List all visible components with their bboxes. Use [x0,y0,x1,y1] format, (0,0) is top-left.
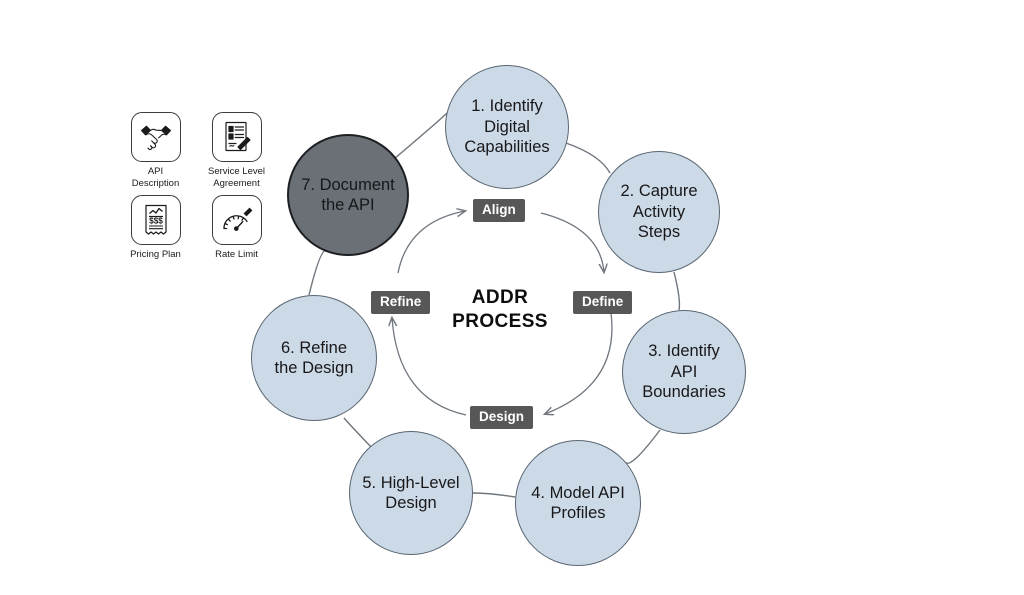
gauge-icon [212,195,262,245]
step-node-4-model-api-profiles[interactable]: 4. Model API Profiles [515,440,641,566]
artifact-label: Rate Limit [215,249,258,261]
step-node-2-capture-activity-steps[interactable]: 2. Capture Activity Steps [598,151,720,273]
artifact-pricing-plan[interactable]: $$$ Pricing Plan [118,195,193,261]
step-node-6-refine-the-design[interactable]: 6. Refine the Design [251,295,377,421]
api-artifacts-panel: API Description [118,112,274,261]
phase-chip-define[interactable]: Define [573,291,632,314]
diagram-center-title: ADDRPROCESS [430,286,570,334]
artifact-api-description[interactable]: API Description [118,112,193,189]
signed-document-icon [212,112,262,162]
artifact-label: Pricing Plan [130,249,181,261]
phase-chip-align[interactable]: Align [473,199,525,222]
step-node-1-identify-digital-capabilities[interactable]: 1. Identify Digital Capabilities [445,65,569,189]
artifact-rate-limit[interactable]: Rate Limit [199,195,274,261]
receipt-dollar-icon: $$$ [131,195,181,245]
center-title-line-2: PROCESS [452,311,548,332]
diagram-stage: API Description [0,0,1024,595]
step-node-3-identify-api-boundaries[interactable]: 3. Identify API Boundaries [622,310,746,434]
artifact-service-level-agreement[interactable]: Service Level Agreement [199,112,274,189]
step-node-5-high-level-design[interactable]: 5. High-Level Design [349,431,473,555]
phase-chip-design[interactable]: Design [470,406,533,429]
phase-chip-refine[interactable]: Refine [371,291,430,314]
handshake-icon [131,112,181,162]
api-artifacts-grid: API Description [118,112,274,261]
artifact-label: API Description [132,166,180,189]
artifact-label: Service Level Agreement [208,166,265,189]
step-node-7-document-the-api[interactable]: 7. Document the API [287,134,409,256]
svg-text:$$$: $$$ [149,217,163,226]
center-title-line-1: ADDR [472,287,529,308]
